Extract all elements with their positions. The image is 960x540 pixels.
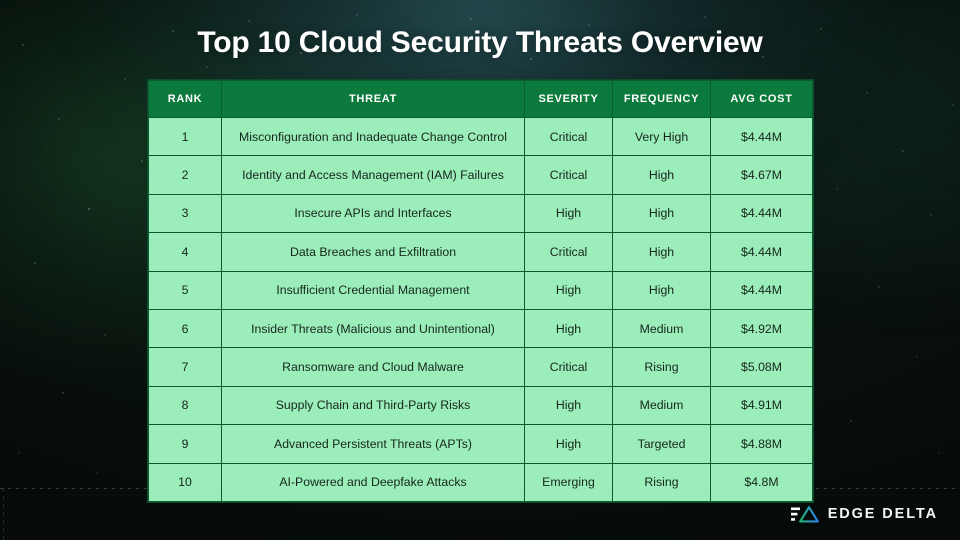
cell-rank: 3 [149,194,222,232]
page-title: Top 10 Cloud Security Threats Overview [0,26,960,60]
cell-severity: High [525,271,613,309]
table-row: 1Misconfiguration and Inadequate Change … [149,118,813,156]
cell-threat: Insufficient Credential Management [222,271,525,309]
cell-frequency: Very High [613,118,711,156]
edge-delta-mark-icon [791,506,819,523]
cell-severity: High [525,425,613,463]
cell-frequency: Rising [613,348,711,386]
footer-divider [0,488,960,489]
cell-threat: Ransomware and Cloud Malware [222,348,525,386]
cell-rank: 8 [149,386,222,424]
cell-severity: Emerging [525,463,613,501]
cell-threat: Supply Chain and Third-Party Risks [222,386,525,424]
cell-avg-cost: $4.67M [711,156,813,194]
cell-avg-cost: $4.8M [711,463,813,501]
cell-avg-cost: $4.44M [711,118,813,156]
table-row: 8Supply Chain and Third-Party RisksHighM… [149,386,813,424]
cell-rank: 6 [149,309,222,347]
cell-avg-cost: $4.92M [711,309,813,347]
cell-frequency: High [613,271,711,309]
table-body: 1Misconfiguration and Inadequate Change … [149,118,813,502]
cell-frequency: Targeted [613,425,711,463]
cell-threat: Advanced Persistent Threats (APTs) [222,425,525,463]
table-row: 7Ransomware and Cloud MalwareCriticalRis… [149,348,813,386]
cell-frequency: Medium [613,386,711,424]
cell-threat: Insecure APIs and Interfaces [222,194,525,232]
column-header-severity: SEVERITY [525,81,613,118]
table-row: 2Identity and Access Management (IAM) Fa… [149,156,813,194]
cell-severity: High [525,309,613,347]
table-header: RANK THREAT SEVERITY FREQUENCY AVG COST [149,81,813,118]
slide-canvas: Top 10 Cloud Security Threats Overview R… [0,0,960,540]
cell-frequency: Rising [613,463,711,501]
cell-rank: 2 [149,156,222,194]
cell-severity: Critical [525,233,613,271]
cell-avg-cost: $4.91M [711,386,813,424]
cell-rank: 10 [149,463,222,501]
cell-frequency: High [613,233,711,271]
cell-threat: AI-Powered and Deepfake Attacks [222,463,525,501]
cell-severity: Critical [525,156,613,194]
column-header-rank: RANK [149,81,222,118]
threats-table: RANK THREAT SEVERITY FREQUENCY AVG COST … [148,80,813,502]
table-row: 9Advanced Persistent Threats (APTs)HighT… [149,425,813,463]
column-header-avg-cost: AVG COST [711,81,813,118]
cell-threat: Misconfiguration and Inadequate Change C… [222,118,525,156]
cell-severity: High [525,386,613,424]
cell-avg-cost: $5.08M [711,348,813,386]
cell-avg-cost: $4.44M [711,194,813,232]
cell-rank: 5 [149,271,222,309]
cell-threat: Insider Threats (Malicious and Unintenti… [222,309,525,347]
cell-rank: 9 [149,425,222,463]
cell-rank: 7 [149,348,222,386]
cell-threat: Identity and Access Management (IAM) Fai… [222,156,525,194]
table-row: 6Insider Threats (Malicious and Unintent… [149,309,813,347]
column-header-frequency: FREQUENCY [613,81,711,118]
table-row: 5Insufficient Credential ManagementHighH… [149,271,813,309]
edge-delta-logo: EDGE DELTA [791,506,938,523]
cell-severity: High [525,194,613,232]
edge-delta-wordmark: EDGE DELTA [828,507,938,522]
cell-frequency: High [613,194,711,232]
cell-avg-cost: $4.44M [711,271,813,309]
cell-threat: Data Breaches and Exfiltration [222,233,525,271]
table-row: 3Insecure APIs and InterfacesHighHigh$4.… [149,194,813,232]
cell-avg-cost: $4.88M [711,425,813,463]
table-row: 10AI-Powered and Deepfake AttacksEmergin… [149,463,813,501]
cell-severity: Critical [525,348,613,386]
table-row: 4Data Breaches and ExfiltrationCriticalH… [149,233,813,271]
footer-divider-vertical [3,488,4,540]
cell-frequency: High [613,156,711,194]
cell-rank: 1 [149,118,222,156]
table-header-row: RANK THREAT SEVERITY FREQUENCY AVG COST [149,81,813,118]
cell-avg-cost: $4.44M [711,233,813,271]
cell-rank: 4 [149,233,222,271]
column-header-threat: THREAT [222,81,525,118]
cell-severity: Critical [525,118,613,156]
cell-frequency: Medium [613,309,711,347]
